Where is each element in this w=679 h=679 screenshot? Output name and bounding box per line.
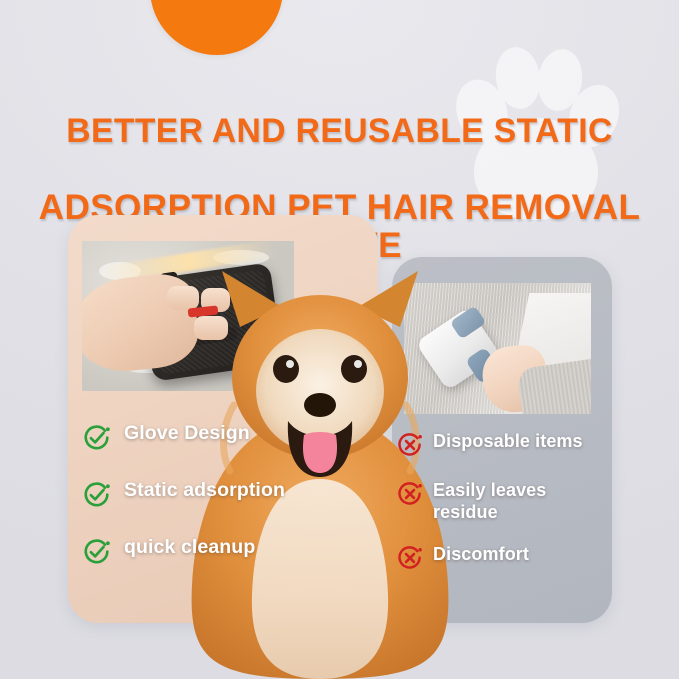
promo-banner: BETTER AND REUSABLE STATIC ADSORPTION PE… bbox=[0, 0, 679, 679]
x-circle-icon bbox=[396, 480, 424, 508]
list-item-label: Easily leaves residue bbox=[433, 479, 553, 523]
check-circle-icon bbox=[82, 537, 112, 567]
list-item-label: Glove Design bbox=[124, 422, 250, 445]
list-item: Easily leaves residue bbox=[396, 479, 626, 523]
list-item-label: quick cleanup bbox=[124, 536, 255, 559]
list-item: Glove Design bbox=[82, 422, 382, 453]
list-item: quick cleanup bbox=[82, 536, 382, 567]
list-item: Disposable items bbox=[396, 430, 626, 459]
title-line-1: BETTER AND REUSABLE STATIC bbox=[3, 112, 675, 150]
list-item-label: Discomfort bbox=[433, 543, 529, 565]
list-item: Discomfort bbox=[396, 543, 626, 572]
list-item: Static adsorption bbox=[82, 479, 382, 510]
x-circle-icon bbox=[396, 544, 424, 572]
x-circle-icon bbox=[396, 431, 424, 459]
competitor-feature-list: Disposable items Easily leaves residue bbox=[396, 430, 626, 592]
check-circle-icon bbox=[82, 480, 112, 510]
check-circle-icon bbox=[82, 423, 112, 453]
product-feature-list: Glove Design Static adsorption quick c bbox=[82, 422, 382, 593]
orange-circle-decoration bbox=[150, 0, 283, 55]
list-item-label: Static adsorption bbox=[124, 479, 285, 502]
list-item-label: Disposable items bbox=[433, 430, 583, 452]
